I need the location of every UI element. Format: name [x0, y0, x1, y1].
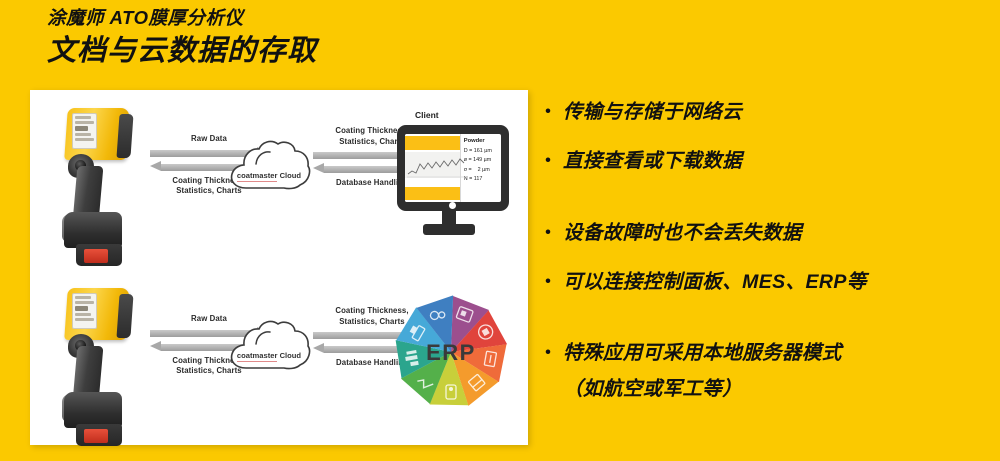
diagram-panel-erp: Raw Data Coating Thickness, Statistics, … [30, 276, 528, 446]
bullet-marker: • [545, 270, 563, 293]
readout-row: N = 117 [464, 175, 499, 184]
header: 涂魔师 ATO膜厚分析仪 文档与云数据的存取 [47, 6, 567, 71]
bullet-text: 直接查看或下载数据 [563, 149, 742, 174]
client-monitor-icon: Client Powder D = 161 µm [385, 110, 513, 250]
erp-wheel-icon: ERP [385, 286, 517, 418]
cloud-icon: coatmaster Cloud [226, 138, 312, 196]
readout-row: D = 161 µm [464, 147, 499, 156]
cloud-suffix: Cloud [277, 351, 301, 360]
bullet-text-continuation: （如航空或军工等） [563, 377, 742, 402]
bullet-item-5: • 特殊应用可采用本地服务器模式 [545, 341, 985, 366]
handheld-device-icon [48, 284, 153, 446]
bullet-text: 设备故障时也不会丢失数据 [563, 221, 802, 246]
cloud-brand: coatmaster [237, 351, 278, 362]
bullet-item-4: • 可以连接控制面板、MES、ERP等 [545, 270, 985, 295]
erp-label: ERP [385, 340, 517, 366]
handheld-device-icon [48, 104, 153, 266]
bullet-list: • 传输与存储于网络云 • 直接查看或下载数据 • 设备故障时也不会丢失数据 •… [545, 100, 985, 402]
bullet-marker: • [545, 221, 563, 244]
page-title: 文档与云数据的存取 [47, 33, 567, 71]
bullet-item-5-continuation: （如航空或军工等） [545, 377, 985, 402]
page-subtitle: 涂魔师 ATO膜厚分析仪 [47, 6, 567, 29]
bullet-item-1: • 传输与存储于网络云 [545, 100, 985, 125]
cloud-icon: coatmaster Cloud [226, 318, 312, 376]
diagram-card: Raw Data Coating Thickness, Statistics, … [30, 90, 528, 445]
bullet-marker: • [545, 341, 563, 364]
cloud-label: coatmaster Cloud [226, 351, 312, 360]
cloud-suffix: Cloud [277, 171, 301, 180]
bullet-item-2: • 直接查看或下载数据 [545, 149, 985, 174]
bullet-marker: • [545, 149, 563, 172]
readout-row: ø = 149 µm [464, 156, 499, 165]
bullet-text: 传输与存储于网络云 [563, 100, 742, 125]
client-label: Client [415, 110, 439, 120]
screen-chart [405, 134, 460, 202]
bullet-text: 可以连接控制面板、MES、ERP等 [563, 270, 867, 295]
bullet-marker: • [545, 100, 563, 123]
readout-title: Powder [464, 137, 499, 147]
cloud-brand: coatmaster [237, 171, 278, 182]
diagram-panel-client: Raw Data Coating Thickness, Statistics, … [30, 96, 528, 266]
bullet-item-3: • 设备故障时也不会丢失数据 [545, 221, 985, 246]
cloud-label: coatmaster Cloud [226, 171, 312, 180]
readout-row: σ = 2 µm [464, 166, 499, 175]
bullet-text: 特殊应用可采用本地服务器模式 [563, 341, 842, 366]
